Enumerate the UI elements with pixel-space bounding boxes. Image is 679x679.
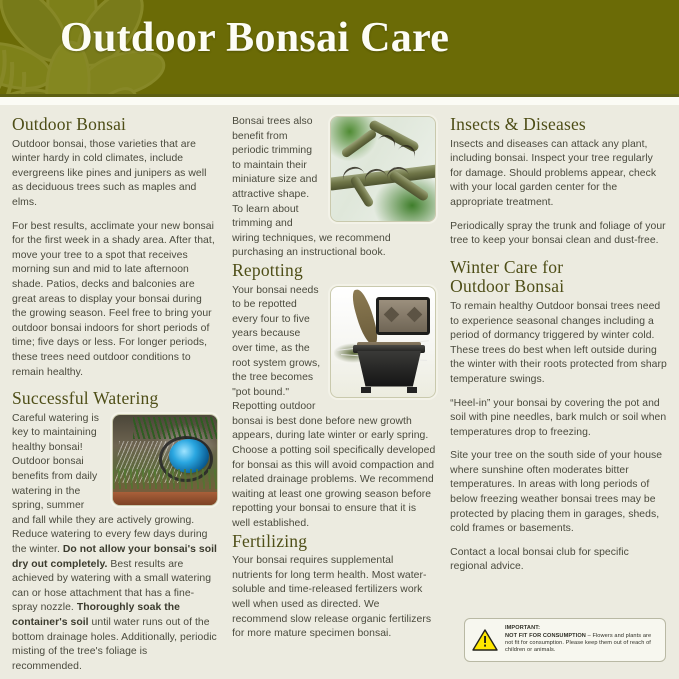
bonsai-repotting-pot-photo	[330, 286, 436, 398]
paragraph: Contact a local bonsai club for specific…	[450, 546, 667, 575]
paragraph: Insects and diseases can attack any plan…	[450, 138, 667, 211]
pot-lip-art	[113, 492, 217, 505]
paragraph: To remain healthy Outdoor bonsai trees n…	[450, 300, 667, 388]
warning-text: IMPORTANT:NOT FIT FOR CONSUMPTION – Flow…	[505, 625, 658, 655]
page-root: Outdoor Bonsai Care Outdoor Bonsai Outdo…	[0, 0, 679, 679]
section-heading-insects-diseases: Insects & Diseases	[450, 115, 667, 135]
warning-triangle-icon	[472, 628, 498, 652]
warning-box: IMPORTANT:NOT FIT FOR CONSUMPTION – Flow…	[464, 618, 666, 662]
column-left: Outdoor Bonsai Outdoor bonsai, those var…	[12, 115, 232, 679]
watering-hose-nozzle-photo	[112, 414, 218, 506]
paragraph: Periodically spray the trunk and foliage…	[450, 220, 667, 249]
heading-line-1: Winter Care for	[450, 257, 563, 277]
warning-line-2-bold: NOT FIT FOR CONSUMPTION	[505, 633, 586, 639]
section-heading-winter-care: Winter Care for Outdoor Bonsai	[450, 258, 667, 297]
paragraph: Your bonsai requires supplemental nutrie…	[232, 554, 436, 642]
nozzle-art	[169, 439, 209, 473]
content-area: Outdoor Bonsai Outdoor bonsai, those var…	[0, 105, 679, 679]
section-heading-outdoor-bonsai: Outdoor Bonsai	[12, 115, 218, 135]
branch-art	[340, 128, 378, 159]
column-right: Insects & Diseases Insects and diseases …	[450, 115, 667, 679]
paragraph: For best results, acclimate your new bon…	[12, 220, 218, 381]
paragraph: “Heel-in” your bonsai by covering the po…	[450, 397, 667, 441]
photo-artwork	[331, 117, 435, 221]
page-title: Outdoor Bonsai Care	[60, 14, 449, 62]
section-heading-successful-watering: Successful Watering	[12, 389, 218, 409]
pot-feet-art	[361, 387, 417, 393]
pine-needles-art	[133, 417, 217, 439]
paragraph: Outdoor bonsai, those varieties that are…	[12, 138, 218, 211]
pot-drainage-inset-art	[376, 297, 430, 335]
bonsai-branch-wiring-photo	[330, 116, 436, 222]
header-divider	[0, 97, 679, 105]
section-heading-repotting: Repotting	[232, 261, 436, 281]
column-middle: Bonsai trees also benefit from periodic …	[232, 115, 450, 679]
page-header: Outdoor Bonsai Care	[0, 0, 679, 97]
paragraph: Site your tree on the south side of your…	[450, 449, 667, 537]
photo-artwork	[113, 415, 217, 505]
photo-artwork	[331, 287, 435, 397]
section-heading-fertilizing: Fertilizing	[232, 532, 436, 552]
pot-art	[357, 351, 421, 387]
moss-art	[113, 469, 217, 489]
heading-line-2: Outdoor Bonsai	[450, 276, 564, 296]
warning-line-1: IMPORTANT:	[505, 625, 658, 632]
